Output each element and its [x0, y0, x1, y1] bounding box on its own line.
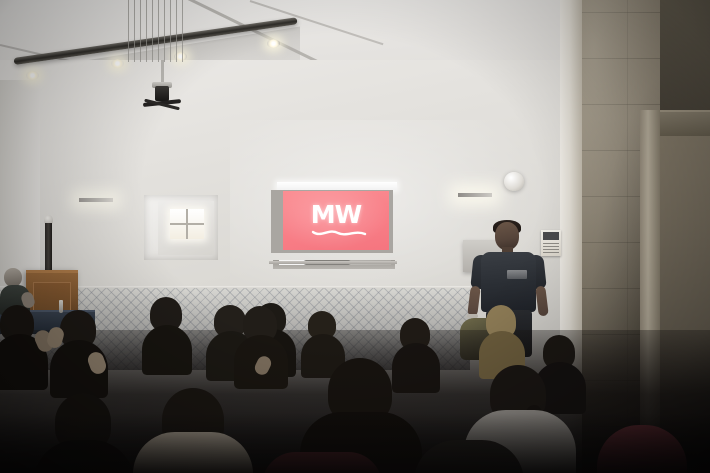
spotlight-2-icon — [111, 59, 124, 68]
attendee-maroon-center — [262, 452, 382, 473]
water-bottle — [59, 300, 63, 313]
presentation-room-photo: MW — [0, 0, 710, 473]
presenter-head — [495, 222, 519, 250]
attendee-b1-body — [142, 325, 192, 375]
projector-mount-stem — [161, 60, 164, 84]
spotlight-1-icon — [26, 71, 39, 80]
wall-sconce-right — [458, 193, 492, 197]
projection-screen: MW — [269, 182, 397, 267]
globe-light — [504, 172, 524, 191]
slide-logo-text: MW — [283, 202, 389, 228]
slide-logo-swash-icon — [311, 226, 367, 238]
recessed-window-niche — [144, 195, 218, 260]
screen-top-highlight — [277, 182, 397, 190]
stone-arch-shadow — [660, 0, 710, 120]
presenter-arm-right — [535, 286, 549, 317]
podium-front-panel — [33, 282, 71, 312]
slide-mw-logo: MW — [283, 191, 389, 250]
ceiling-projector — [155, 86, 169, 101]
window-mullion-horizontal — [170, 223, 204, 225]
wall-sconce-left — [79, 198, 113, 202]
screen-bottom-edge — [269, 261, 397, 264]
presenter-tshirt — [481, 252, 536, 312]
window-pane-group — [170, 209, 204, 239]
screen-surface: MW — [271, 190, 393, 253]
projector-suspension-wires — [126, 0, 188, 62]
presenter-arm-left — [467, 286, 481, 317]
attendee-m4-body — [392, 343, 440, 393]
presenter-shirt-logo — [507, 270, 527, 279]
spotlight-4-icon — [267, 39, 280, 48]
